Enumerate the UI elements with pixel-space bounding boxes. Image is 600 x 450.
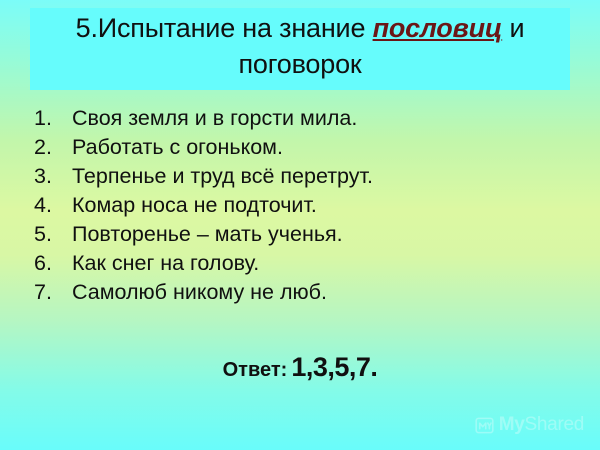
list-item: 6. Как снег на голову. — [34, 251, 564, 280]
watermark: MyShared — [475, 414, 584, 436]
list-item: 7. Самолюб никому не люб. — [34, 280, 564, 309]
answer-value: 1,3,5,7. — [291, 352, 377, 382]
list-item-text: Терпенье и труд всё перетрут. — [72, 164, 564, 189]
list-item-number: 4. — [34, 193, 72, 218]
title-emphasis-word: пословиц — [373, 13, 503, 43]
page-title: 5.Испытание на знание пословиц и поговор… — [30, 10, 570, 82]
list-item: 2. Работать с огоньком. — [34, 135, 564, 164]
myshared-logo-icon — [475, 416, 494, 435]
list-item: 1. Своя земля и в горсти мила. — [34, 106, 564, 135]
list-item-number: 3. — [34, 164, 72, 189]
list-item: 3. Терпенье и труд всё перетрут. — [34, 164, 564, 193]
watermark-brand-light: Shared — [525, 414, 584, 435]
list-item: 5. Повторенье – мать ученья. — [34, 222, 564, 251]
list-item-number: 2. — [34, 135, 72, 160]
list-item-text: Как снег на голову. — [72, 251, 564, 276]
list-item-number: 5. — [34, 222, 72, 247]
list-item-text: Своя земля и в горсти мила. — [72, 106, 564, 131]
list-item-text: Комар носа не подточит. — [72, 193, 564, 218]
title-prefix: 5.Испытание на знание — [76, 13, 373, 43]
list-item: 4. Комар носа не подточит. — [34, 193, 564, 222]
list-item-number: 1. — [34, 106, 72, 131]
list-item-text: Самолюб никому не люб. — [72, 280, 564, 305]
presentation-slide: 5.Испытание на знание пословиц и поговор… — [0, 0, 600, 450]
proverb-list: 1. Своя земля и в горсти мила. 2. Работа… — [34, 106, 564, 309]
list-item-number: 7. — [34, 280, 72, 305]
list-item-number: 6. — [34, 251, 72, 276]
watermark-brand-bold: My — [499, 414, 525, 435]
list-item-text: Работать с огоньком. — [72, 135, 564, 160]
list-item-text: Повторенье – мать ученья. — [72, 222, 564, 247]
answer-line: Ответ:1,3,5,7. — [0, 352, 600, 383]
answer-label: Ответ: — [223, 359, 288, 381]
watermark-text: MyShared — [499, 414, 584, 436]
